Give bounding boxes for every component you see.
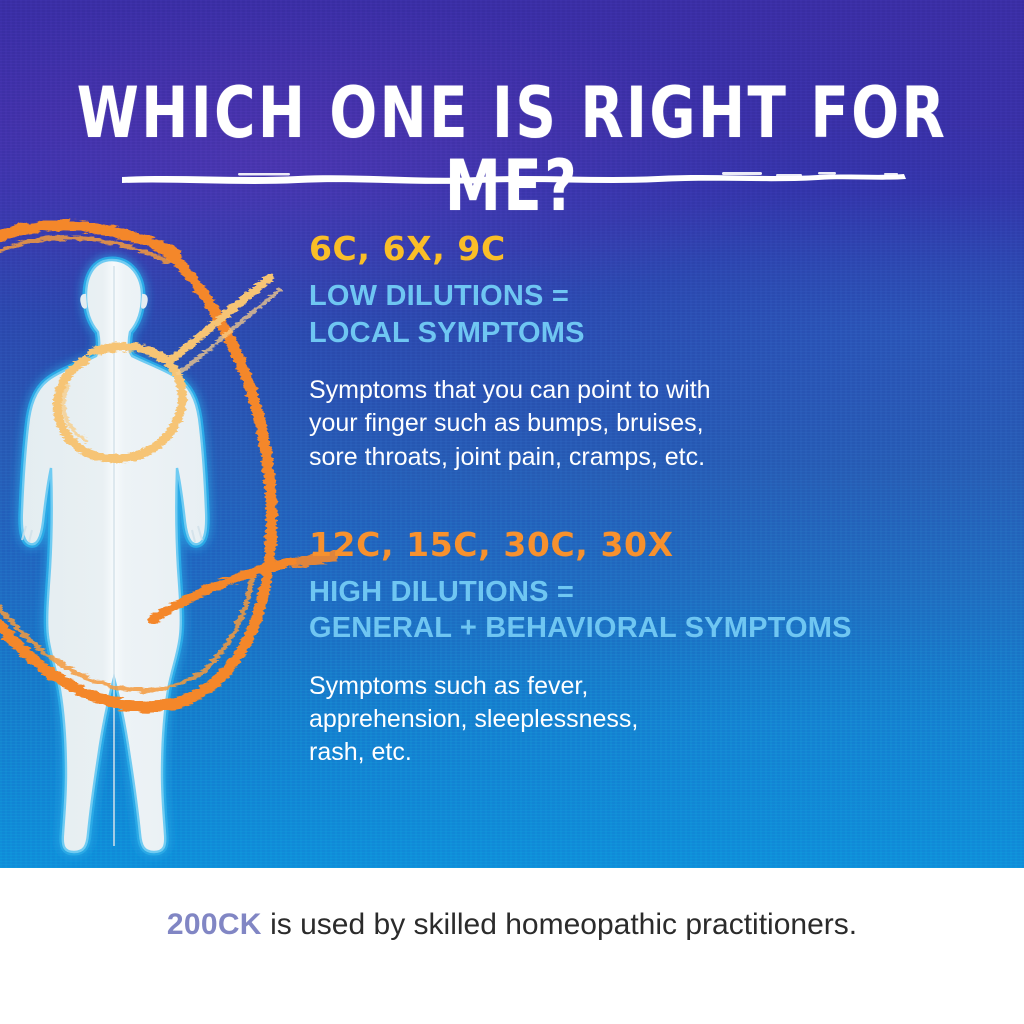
- description-high-line2: apprehension, sleeplessness,: [309, 703, 969, 736]
- figure-ear-left: [80, 294, 87, 309]
- human-body-silhouette: [0, 238, 262, 900]
- footer-note: 200CK is used by skilled homeopathic pra…: [0, 908, 1024, 942]
- dilution-block-low: 6C, 6X, 9C LOW DILUTIONS = LOCAL SYMPTOM…: [309, 232, 969, 474]
- infographic-poster: WHICH ONE IS RIGHT FOR ME?: [0, 0, 1024, 1024]
- subheading-low-line1: LOW DILUTIONS =: [309, 278, 969, 315]
- description-low-line2: your finger such as bumps, bruises,: [309, 407, 969, 440]
- description-low-line1: Symptoms that you can point to with: [309, 374, 969, 407]
- page-title: WHICH ONE IS RIGHT FOR ME?: [15, 76, 1008, 223]
- footer-note-text: is used by skilled homeopathic practitio…: [262, 908, 857, 941]
- subheading-high-line1: HIGH DILUTIONS =: [309, 574, 969, 611]
- footer-potency-highlight: 200CK: [167, 908, 262, 941]
- subheading-low: LOW DILUTIONS = LOCAL SYMPTOMS: [309, 278, 969, 351]
- content-column: 6C, 6X, 9C LOW DILUTIONS = LOCAL SYMPTOM…: [309, 232, 969, 770]
- brush-edge-flecks: [58, 974, 940, 994]
- subheading-low-line2: LOCAL SYMPTOMS: [309, 315, 969, 352]
- description-low: Symptoms that you can point to with your…: [309, 374, 969, 474]
- figure-ear-right: [141, 294, 148, 309]
- description-low-line3: sore throats, joint pain, cramps, etc.: [309, 441, 969, 474]
- subheading-high-line2: GENERAL + BEHAVIORAL SYMPTOMS: [309, 610, 969, 647]
- description-high-line3: rash, etc.: [309, 736, 969, 769]
- description-high: Symptoms such as fever, apprehension, sl…: [309, 670, 969, 770]
- potency-list-high: 12C, 15C, 30C, 30X: [309, 528, 969, 561]
- description-high-line1: Symptoms such as fever,: [309, 670, 969, 703]
- title-underline-brushstroke: [118, 170, 908, 186]
- brush-edge-bottom: [0, 968, 1022, 1024]
- potency-list-low: 6C, 6X, 9C: [309, 232, 969, 265]
- dilution-block-high: 12C, 15C, 30C, 30X HIGH DILUTIONS = GENE…: [309, 528, 969, 770]
- subheading-high: HIGH DILUTIONS = GENERAL + BEHAVIORAL SY…: [309, 574, 969, 647]
